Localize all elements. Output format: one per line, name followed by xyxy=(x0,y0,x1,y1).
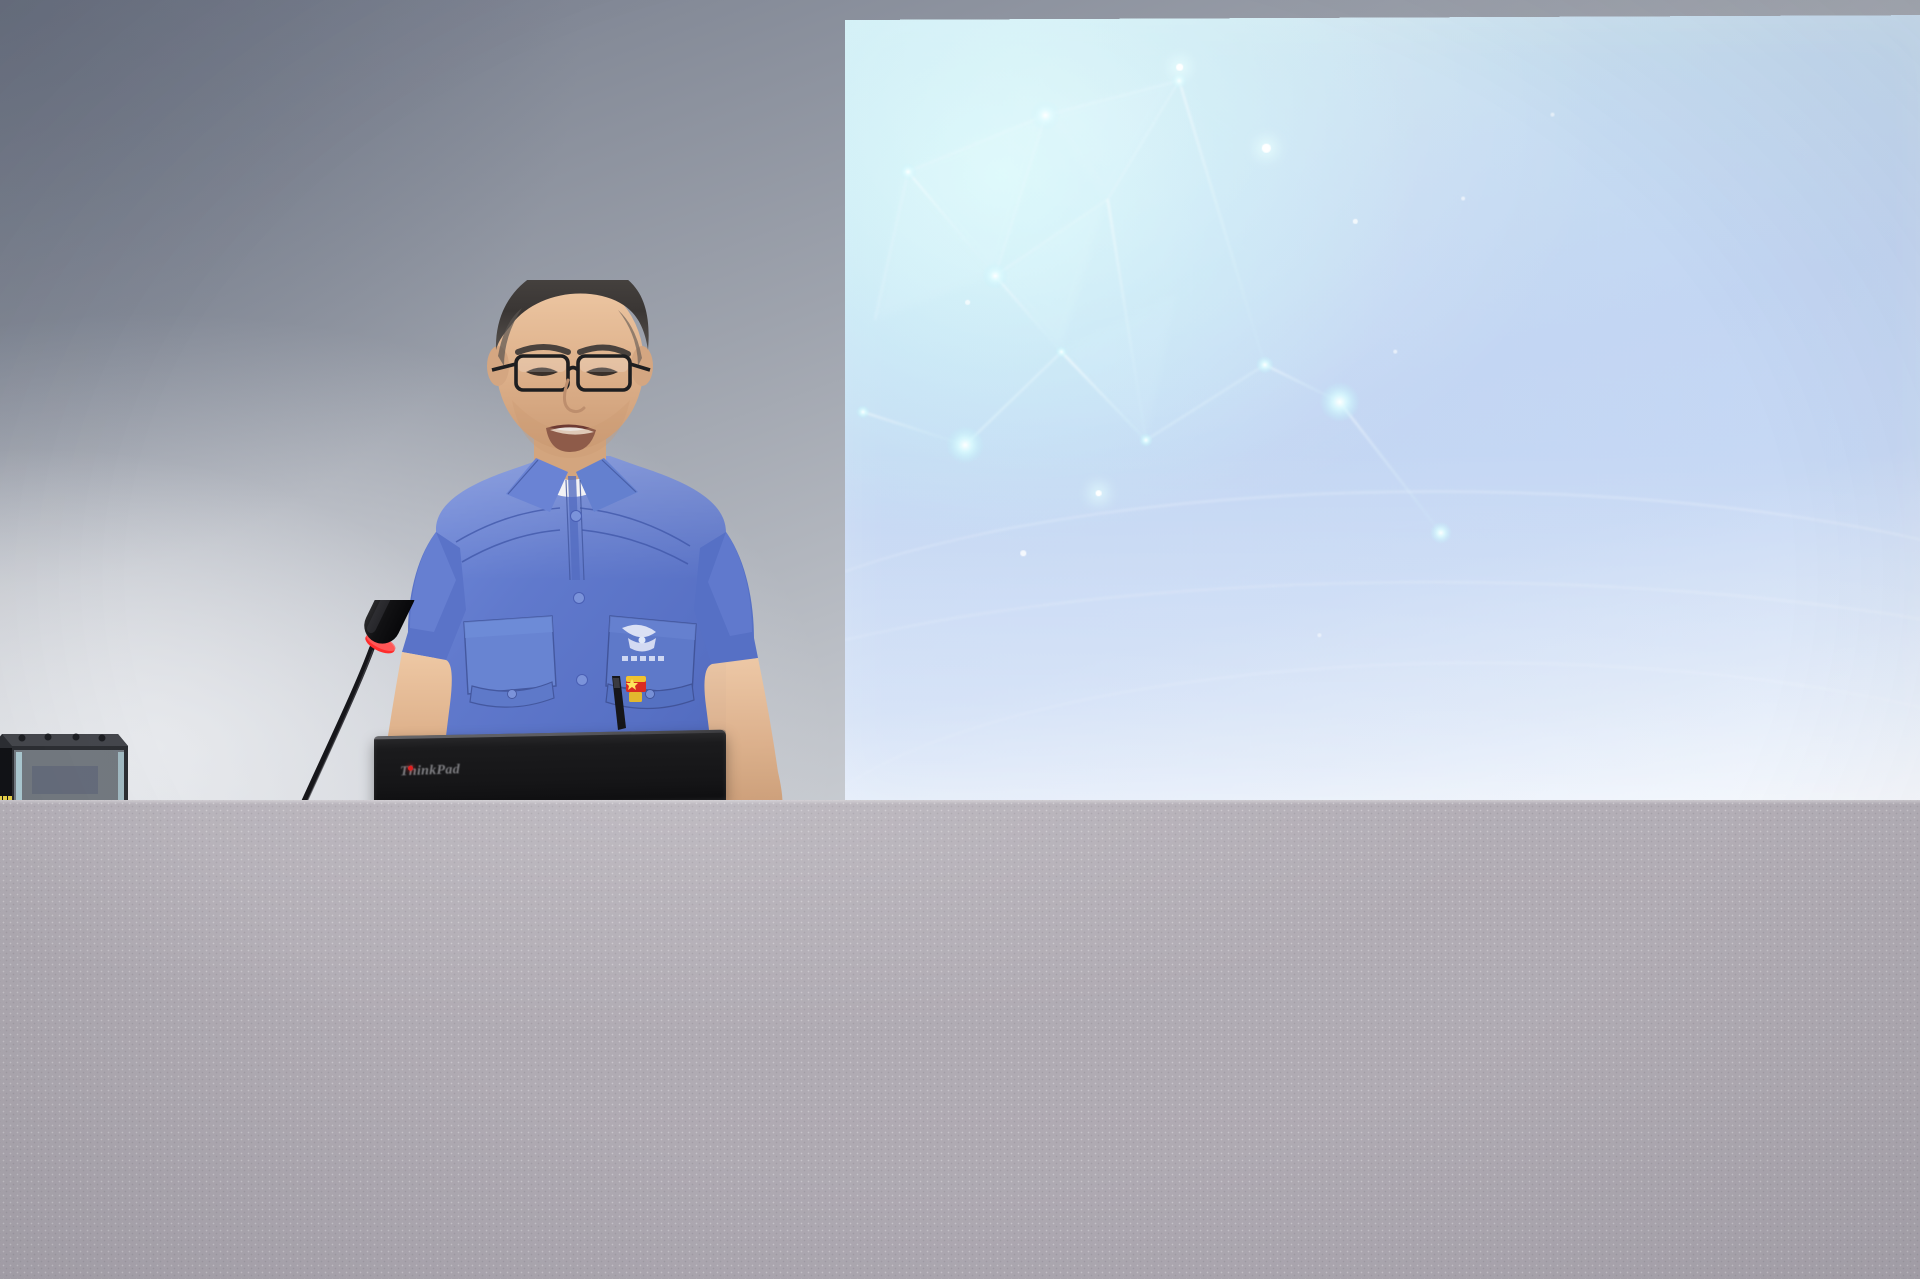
head xyxy=(487,280,653,458)
shirt-button xyxy=(571,511,582,522)
podium-table xyxy=(0,800,1920,1279)
equipment-rack xyxy=(0,722,132,804)
screen-vignette xyxy=(845,15,1920,805)
gooseneck-microphone xyxy=(280,600,440,820)
table-sheen xyxy=(0,800,1920,1279)
shirt-button xyxy=(577,675,588,686)
shirt-button xyxy=(574,593,585,604)
screenshot-root: 第四部分 总经理工作部署 xyxy=(0,0,1920,1279)
projection-screen: 第四部分 总经理工作部署 xyxy=(845,15,1920,805)
pocket-left xyxy=(464,616,556,707)
mic-stem xyxy=(302,648,372,806)
